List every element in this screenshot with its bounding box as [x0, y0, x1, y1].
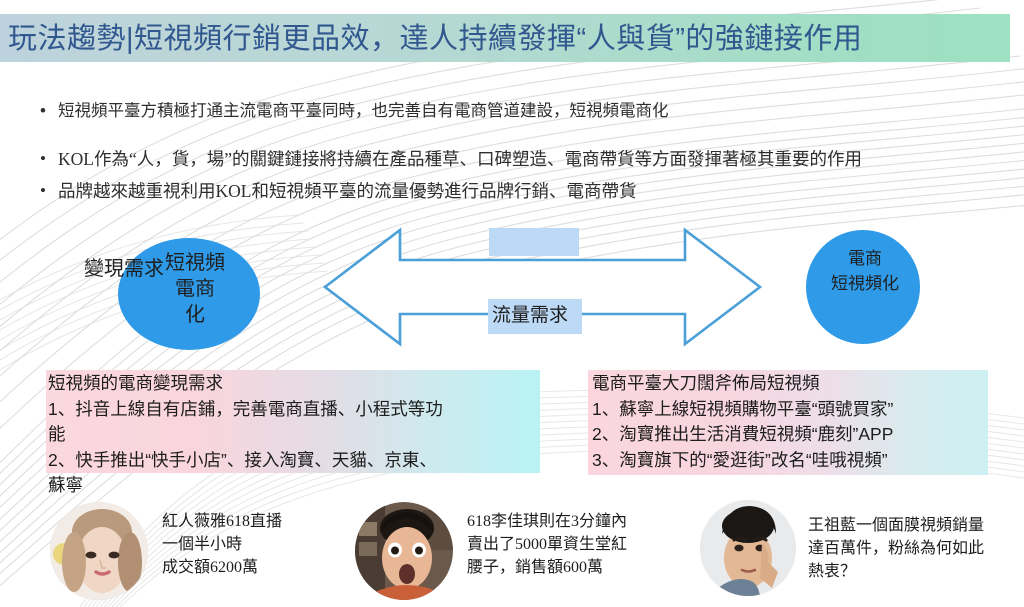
card-1-caption-line-1: 紅人薇雅618直播	[162, 510, 282, 533]
bullet-item-1: 短視頻平臺方積極打通主流電商平臺同時，也完善自有電商管道建設，短視頻電商化	[36, 100, 1011, 122]
card-2-caption-line-2: 賣出了5000單資生堂紅	[467, 533, 627, 556]
arrow-bottom-label: 流量需求	[492, 302, 568, 330]
card-3-caption-line-2: 達百萬件，粉絲為何如此	[808, 537, 984, 560]
info-right-line-1: 1、蘇寧上線短視頻購物平臺“頭號買家”	[592, 397, 992, 423]
bullet-list: 短視頻平臺方積極打通主流電商平臺同時，也完善自有電商管道建設，短視頻電商化 KO…	[36, 100, 1011, 202]
slide-canvas: 玩法趨勢|短視頻行銷更品效，達人持續發揮“人與貨”的強鏈接作用 短視頻平臺方積極…	[0, 0, 1024, 607]
info-left-heading: 短視頻的電商變現需求	[48, 371, 548, 397]
influencer-card-1: 紅人薇雅618直播 一個半小時 成交額6200萬	[50, 502, 282, 600]
bullet-item-3: 品牌越來越重視利用KOL和短視頻平臺的流量優勢進行品牌行銷、電商帶貨	[36, 180, 1011, 202]
info-left-line-2: 能	[48, 422, 548, 448]
right-circle-label: 電商 短視頻化	[810, 246, 920, 296]
left-circle-line-3: 化	[155, 302, 235, 328]
influencer-card-2-caption: 618李佳琪則在3分鐘內 賣出了5000單資生堂紅 腰子，銷售額600萬	[467, 510, 627, 579]
card-2-caption-line-1: 618李佳琪則在3分鐘內	[467, 510, 627, 533]
info-left-line-1: 1、抖音上線自有店鋪，完善電商直播、小程式等功	[48, 397, 548, 423]
influencer-card-2: 618李佳琪則在3分鐘內 賣出了5000單資生堂紅 腰子，銷售額600萬	[355, 502, 627, 600]
bullet-item-2: KOL作為“人，貨，場”的關鍵鏈接將持續在產品種草、口碑塑造、電商帶貨等方面發揮…	[36, 148, 1011, 170]
right-circle-line-2: 短視頻化	[810, 271, 920, 296]
influencer-weiya-photo	[50, 502, 148, 600]
monetization-demand-label: 變現需求	[84, 252, 164, 281]
card-3-caption-line-3: 熱衷？	[808, 560, 984, 583]
info-left-line-3: 2、快手推出“快手小店”、接入淘寶、天貓、京東、	[48, 448, 548, 474]
card-2-caption-line-3: 腰子，銷售額600萬	[467, 556, 627, 579]
left-circle-line-1: 短視頻	[155, 250, 235, 276]
influencer-wangzulan-photo	[700, 500, 796, 596]
left-circle-line-2: 電商	[155, 276, 235, 302]
influencer-lijiaqi-photo	[355, 502, 453, 600]
info-right-line-3: 3、淘寶旗下的“愛逛街”改名“哇哦視頻”	[592, 448, 992, 474]
info-right-heading: 電商平臺大刀闊斧佈局短視頻	[592, 371, 992, 397]
left-circle-label: 短視頻 電商 化	[155, 250, 235, 328]
right-circle-line-1: 電商	[810, 246, 920, 271]
info-right-panel: 電商平臺大刀闊斧佈局短視頻 1、蘇寧上線短視頻購物平臺“頭號買家” 2、淘寶推出…	[592, 371, 992, 473]
influencer-card-3: 王祖藍一個面膜視頻銷量 達百萬件，粉絲為何如此 熱衷？	[700, 500, 984, 596]
page-title: 玩法趨勢|短視頻行銷更品效，達人持續發揮“人與貨”的強鏈接作用	[8, 16, 1018, 62]
info-left-panel: 短視頻的電商變現需求 1、抖音上線自有店鋪，完善電商直播、小程式等功 能 2、快…	[48, 371, 548, 499]
card-1-caption-line-2: 一個半小時	[162, 533, 282, 556]
info-right-line-2: 2、淘寶推出生活消費短視頻“鹿刻”APP	[592, 422, 992, 448]
arrow-top-highlight-box	[489, 228, 579, 256]
card-1-caption-line-3: 成交額6200萬	[162, 556, 282, 579]
card-3-caption-line-1: 王祖藍一個面膜視頻銷量	[808, 514, 984, 537]
influencer-card-1-caption: 紅人薇雅618直播 一個半小時 成交額6200萬	[162, 510, 282, 579]
info-left-line-4: 蘇寧	[48, 473, 548, 499]
influencer-card-3-caption: 王祖藍一個面膜視頻銷量 達百萬件，粉絲為何如此 熱衷？	[808, 514, 984, 583]
